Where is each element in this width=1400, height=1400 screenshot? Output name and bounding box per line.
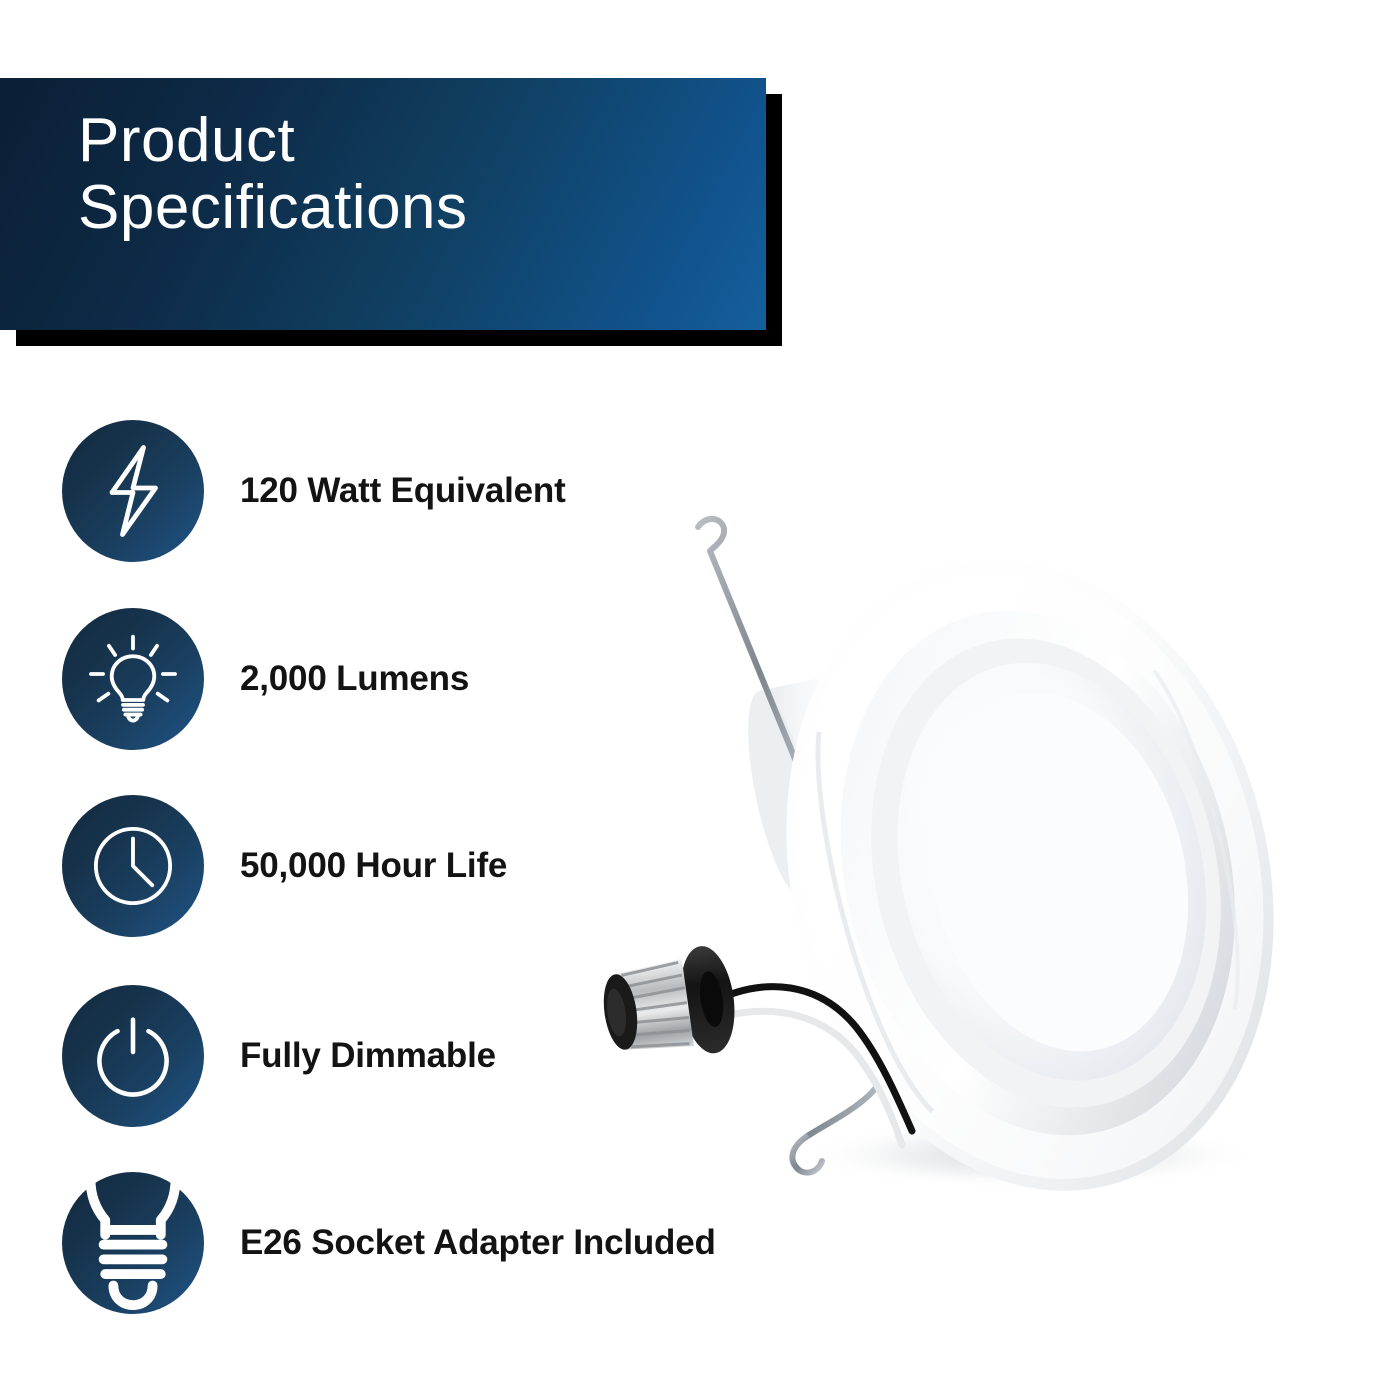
header-banner-fill: Product Specifications [0, 78, 766, 330]
product-specifications-infographic: Product Specifications 120 Watt Equivale… [0, 0, 1400, 1400]
led-downlight-illustration [560, 355, 1400, 1255]
power-button-icon [62, 985, 204, 1127]
spec-row-dimmable: Fully Dimmable [62, 985, 496, 1127]
light-bulb-icon [62, 608, 204, 750]
socket-base-icon [62, 1172, 204, 1314]
e26-socket-adapter [597, 943, 741, 1068]
spec-label: Fully Dimmable [240, 1036, 496, 1076]
clock-icon [62, 795, 204, 937]
spec-row-lumens: 2,000 Lumens [62, 608, 469, 750]
page-title: Product Specifications [78, 108, 738, 242]
spec-row-watt-equivalent: 120 Watt Equivalent [62, 420, 566, 562]
product-image [560, 355, 1400, 1255]
spec-label: 2,000 Lumens [240, 659, 469, 699]
header-banner: Product Specifications [0, 78, 782, 346]
spec-label: 120 Watt Equivalent [240, 471, 566, 511]
spec-label: 50,000 Hour Life [240, 846, 507, 886]
lightning-bolt-icon [62, 420, 204, 562]
spec-row-hour-life: 50,000 Hour Life [62, 795, 507, 937]
